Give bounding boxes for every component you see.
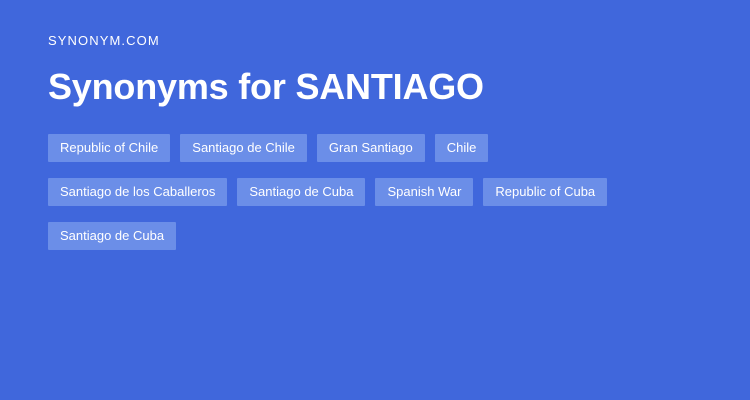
synonym-tag[interactable]: Spanish War	[375, 178, 473, 206]
content-container: SYNONYM.COM Synonyms for SANTIAGO Republ…	[48, 0, 710, 250]
synonym-tag[interactable]: Republic of Cuba	[483, 178, 607, 206]
synonym-tag[interactable]: Gran Santiago	[317, 134, 425, 162]
site-name: SYNONYM.COM	[48, 0, 710, 49]
synonym-tag[interactable]: Santiago de Chile	[180, 134, 307, 162]
synonym-tag[interactable]: Santiago de los Caballeros	[48, 178, 227, 206]
synonym-results-page: SYNONYM.COM Synonyms for SANTIAGO Republ…	[0, 0, 750, 400]
synonym-tag[interactable]: Santiago de Cuba	[237, 178, 365, 206]
synonym-tag[interactable]: Chile	[435, 134, 489, 162]
synonym-row: Santiago de Cuba	[48, 222, 710, 250]
synonym-tag[interactable]: Santiago de Cuba	[48, 222, 176, 250]
synonym-row: Santiago de los Caballeros Santiago de C…	[48, 178, 710, 206]
synonym-tag-list: Republic of Chile Santiago de Chile Gran…	[48, 134, 710, 250]
synonym-row: Republic of Chile Santiago de Chile Gran…	[48, 134, 710, 162]
synonym-tag[interactable]: Republic of Chile	[48, 134, 170, 162]
page-title: Synonyms for SANTIAGO	[48, 49, 710, 108]
